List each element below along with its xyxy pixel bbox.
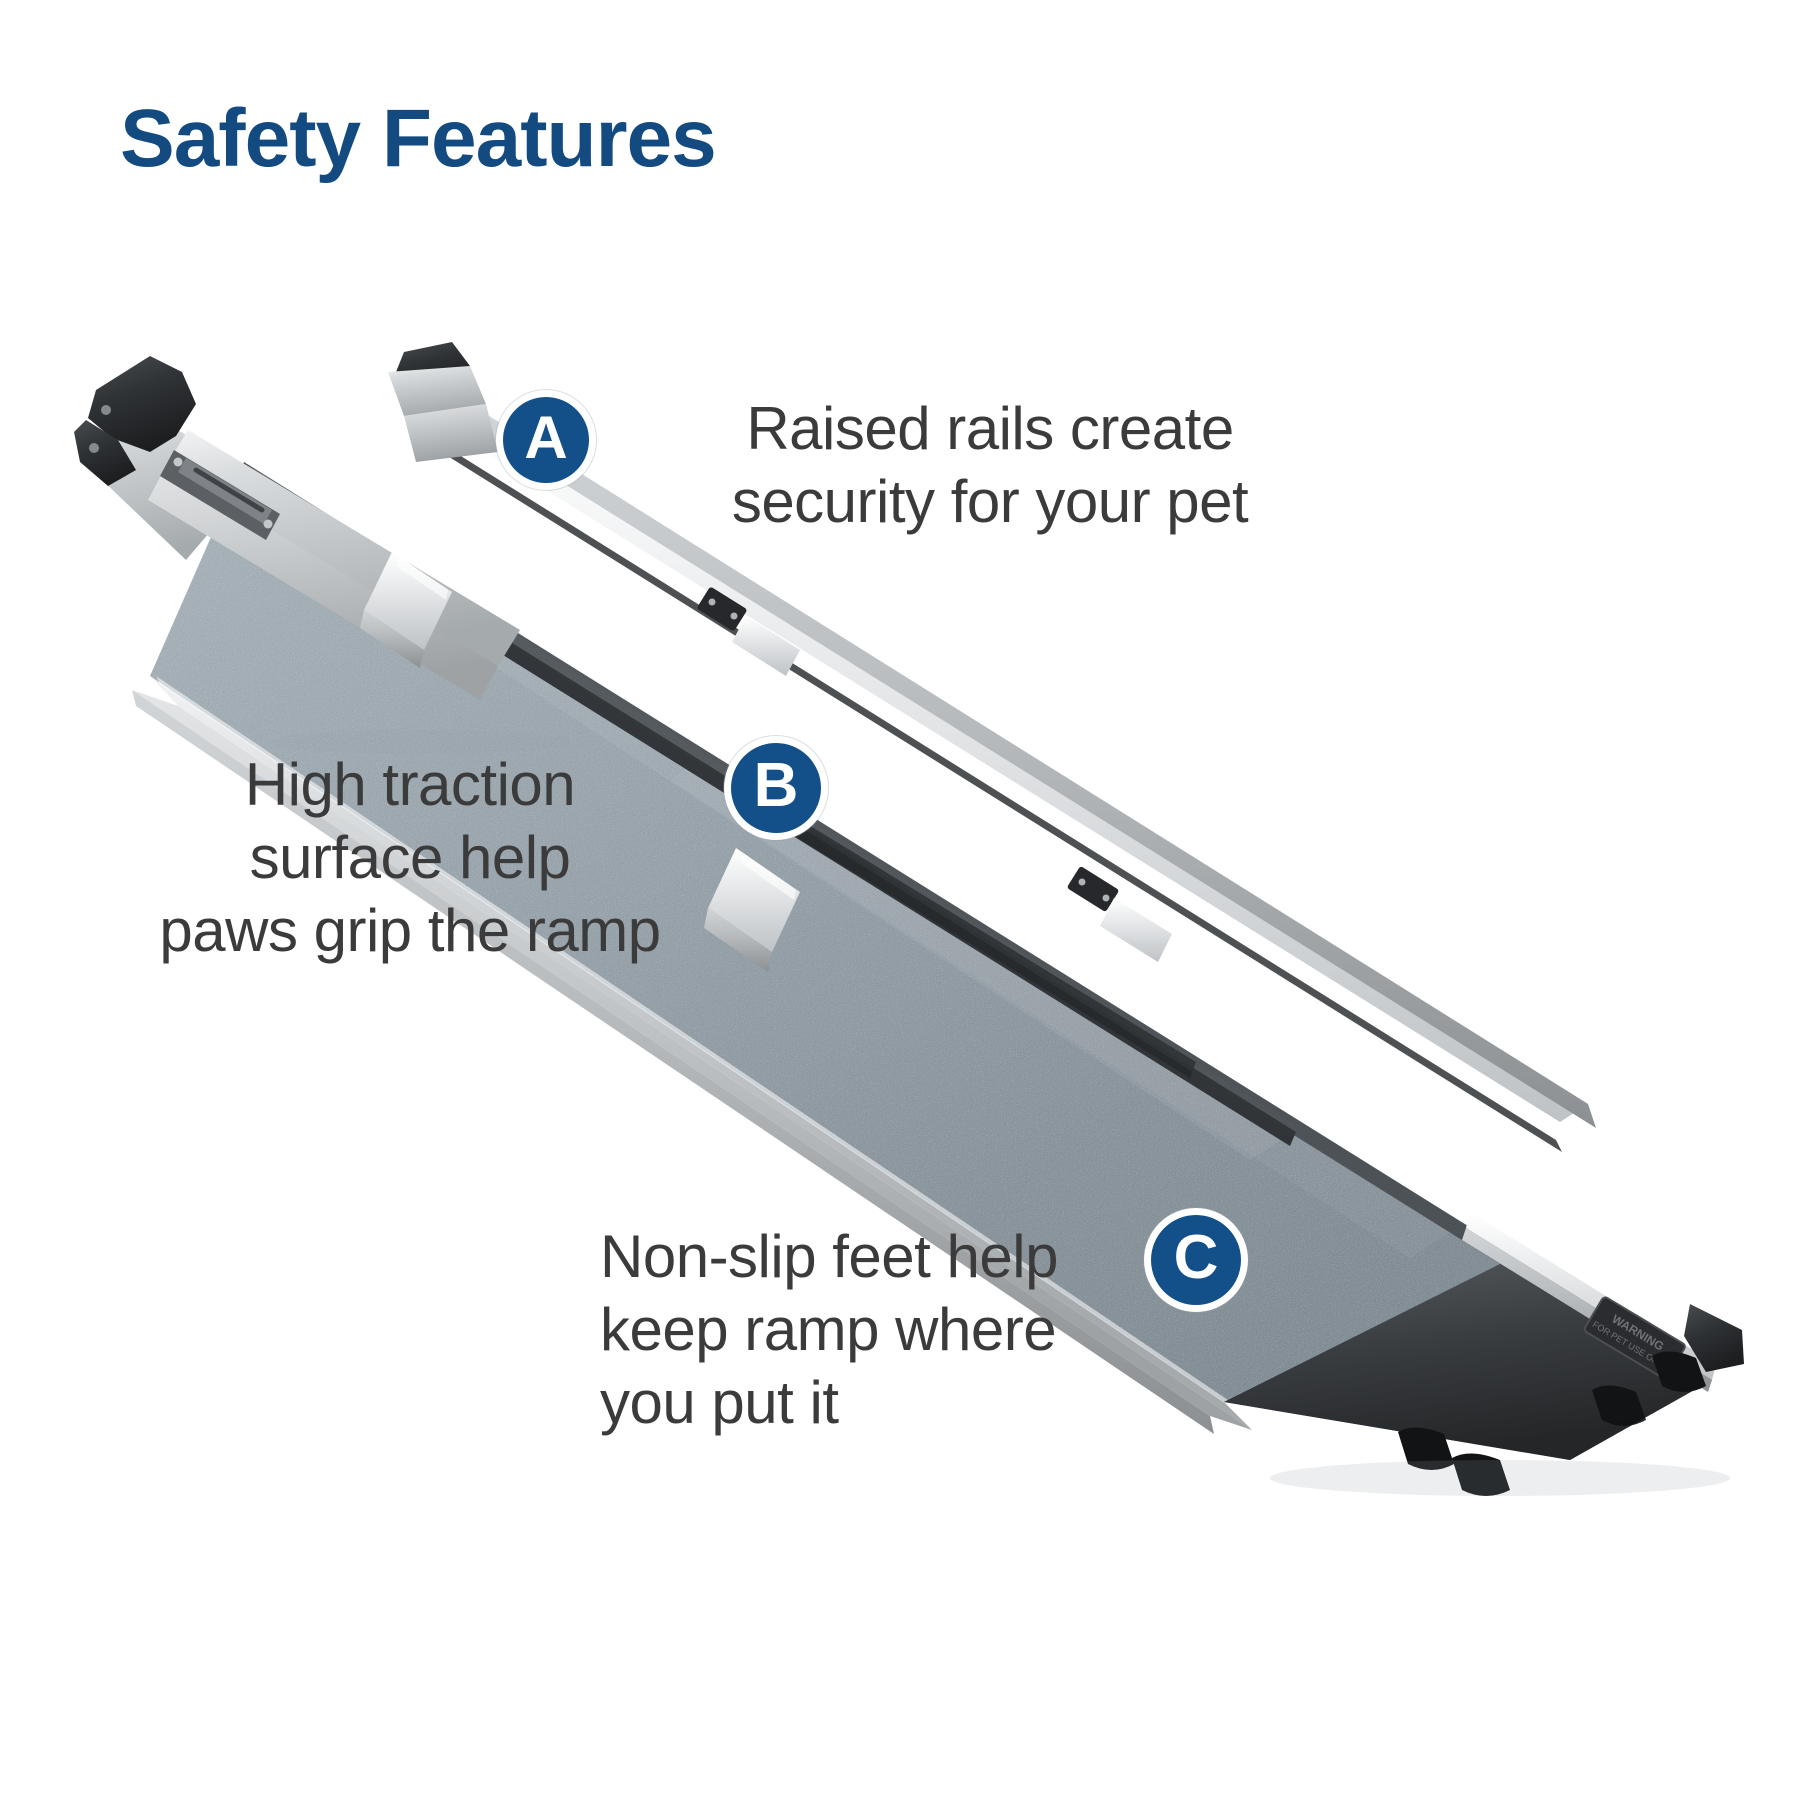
infographic-canvas: Safety Features bbox=[0, 0, 1800, 1800]
page-title: Safety Features bbox=[120, 96, 716, 182]
latch-upper bbox=[696, 586, 747, 631]
carry-handle bbox=[160, 450, 280, 540]
ramp-bottom-end: WARNING FOR PET USE ONLY bbox=[1224, 1212, 1744, 1496]
far-rail-collar-upper bbox=[732, 616, 800, 676]
rail-joint-lower bbox=[704, 848, 800, 972]
rail-joint-upper bbox=[360, 552, 452, 668]
callout-badge-b[interactable]: B bbox=[724, 736, 828, 840]
non-slip-feet bbox=[1398, 1351, 1706, 1496]
bottom-endplate bbox=[1224, 1228, 1712, 1460]
callout-badge-b-letter: B bbox=[754, 755, 799, 817]
far-rail-collar-lower bbox=[1100, 898, 1172, 962]
warning-label-title: WARNING bbox=[1609, 1312, 1666, 1354]
top-endcap bbox=[88, 356, 196, 452]
bottom-endcap-far bbox=[1684, 1304, 1744, 1372]
callout-badge-a-letter: A bbox=[524, 408, 567, 468]
callout-text-a: Raised rails create security for your pe… bbox=[620, 392, 1360, 538]
latch-lower bbox=[1067, 866, 1120, 912]
callout-badge-a[interactable]: A bbox=[496, 390, 596, 490]
callout-badge-c-letter: C bbox=[1174, 1227, 1219, 1289]
warning-label: WARNING FOR PET USE ONLY bbox=[1583, 1296, 1686, 1380]
top-endcap-far bbox=[396, 342, 470, 392]
warning-label-sub: FOR PET USE ONLY bbox=[1591, 1319, 1670, 1372]
callout-text-c: Non-slip feet help keep ramp where you p… bbox=[600, 1220, 1160, 1440]
ramp-top-end bbox=[74, 342, 520, 706]
callout-text-b: High traction surface help paws grip the… bbox=[120, 748, 700, 968]
